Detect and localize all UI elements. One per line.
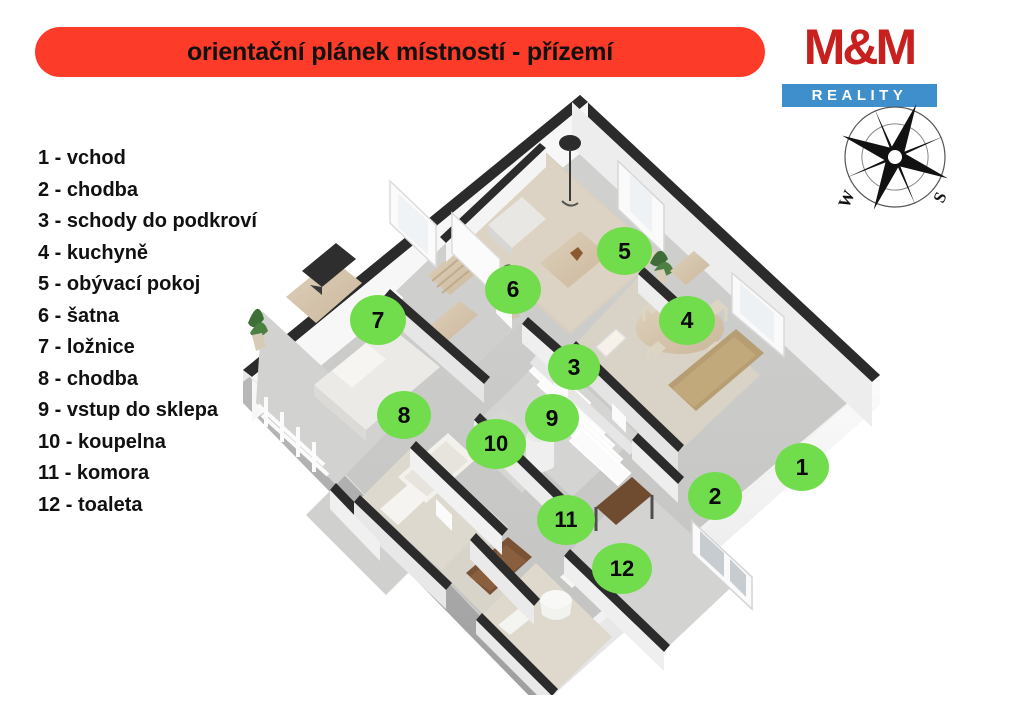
- room-marker-9[interactable]: 9: [525, 394, 579, 442]
- room-marker-1-label: 1: [796, 454, 809, 481]
- room-marker-6[interactable]: 6: [485, 265, 541, 314]
- room-marker-3[interactable]: 3: [548, 344, 600, 390]
- room-marker-1[interactable]: 1: [775, 443, 829, 491]
- room-marker-12[interactable]: 12: [592, 543, 652, 594]
- room-marker-3-label: 3: [568, 354, 581, 381]
- room-marker-8[interactable]: 8: [377, 391, 431, 439]
- room-marker-11[interactable]: 11: [537, 495, 595, 545]
- svg-text:M&M: M&M: [804, 22, 915, 74]
- room-marker-12-label: 12: [610, 556, 634, 582]
- room-marker-5-label: 5: [618, 238, 631, 265]
- logo-wordmark: M&M: [782, 22, 937, 81]
- title-banner: orientační plánek místností - přízemí: [35, 27, 765, 77]
- room-marker-9-label: 9: [546, 405, 559, 432]
- compass-label-south: S: [929, 189, 950, 206]
- room-marker-5[interactable]: 5: [597, 227, 652, 275]
- page-title: orientační plánek místností - přízemí: [187, 38, 613, 67]
- room-marker-2-label: 2: [709, 483, 722, 510]
- room-marker-7[interactable]: 7: [350, 295, 406, 345]
- room-marker-4-label: 4: [681, 307, 694, 334]
- room-marker-10[interactable]: 10: [466, 419, 526, 469]
- room-marker-7-label: 7: [372, 307, 385, 334]
- room-marker-4[interactable]: 4: [659, 296, 715, 345]
- room-marker-11-label: 11: [554, 507, 577, 533]
- floorplan-page: orientační plánek místností - přízemí M&…: [0, 0, 1024, 724]
- mm-wordmark-icon: M&M: [782, 22, 937, 74]
- room-marker-2[interactable]: 2: [688, 472, 742, 520]
- floorplan-illustration: [240, 85, 900, 695]
- room-marker-8-label: 8: [398, 402, 411, 429]
- room-marker-10-label: 10: [484, 431, 508, 457]
- room-marker-6-label: 6: [507, 276, 520, 303]
